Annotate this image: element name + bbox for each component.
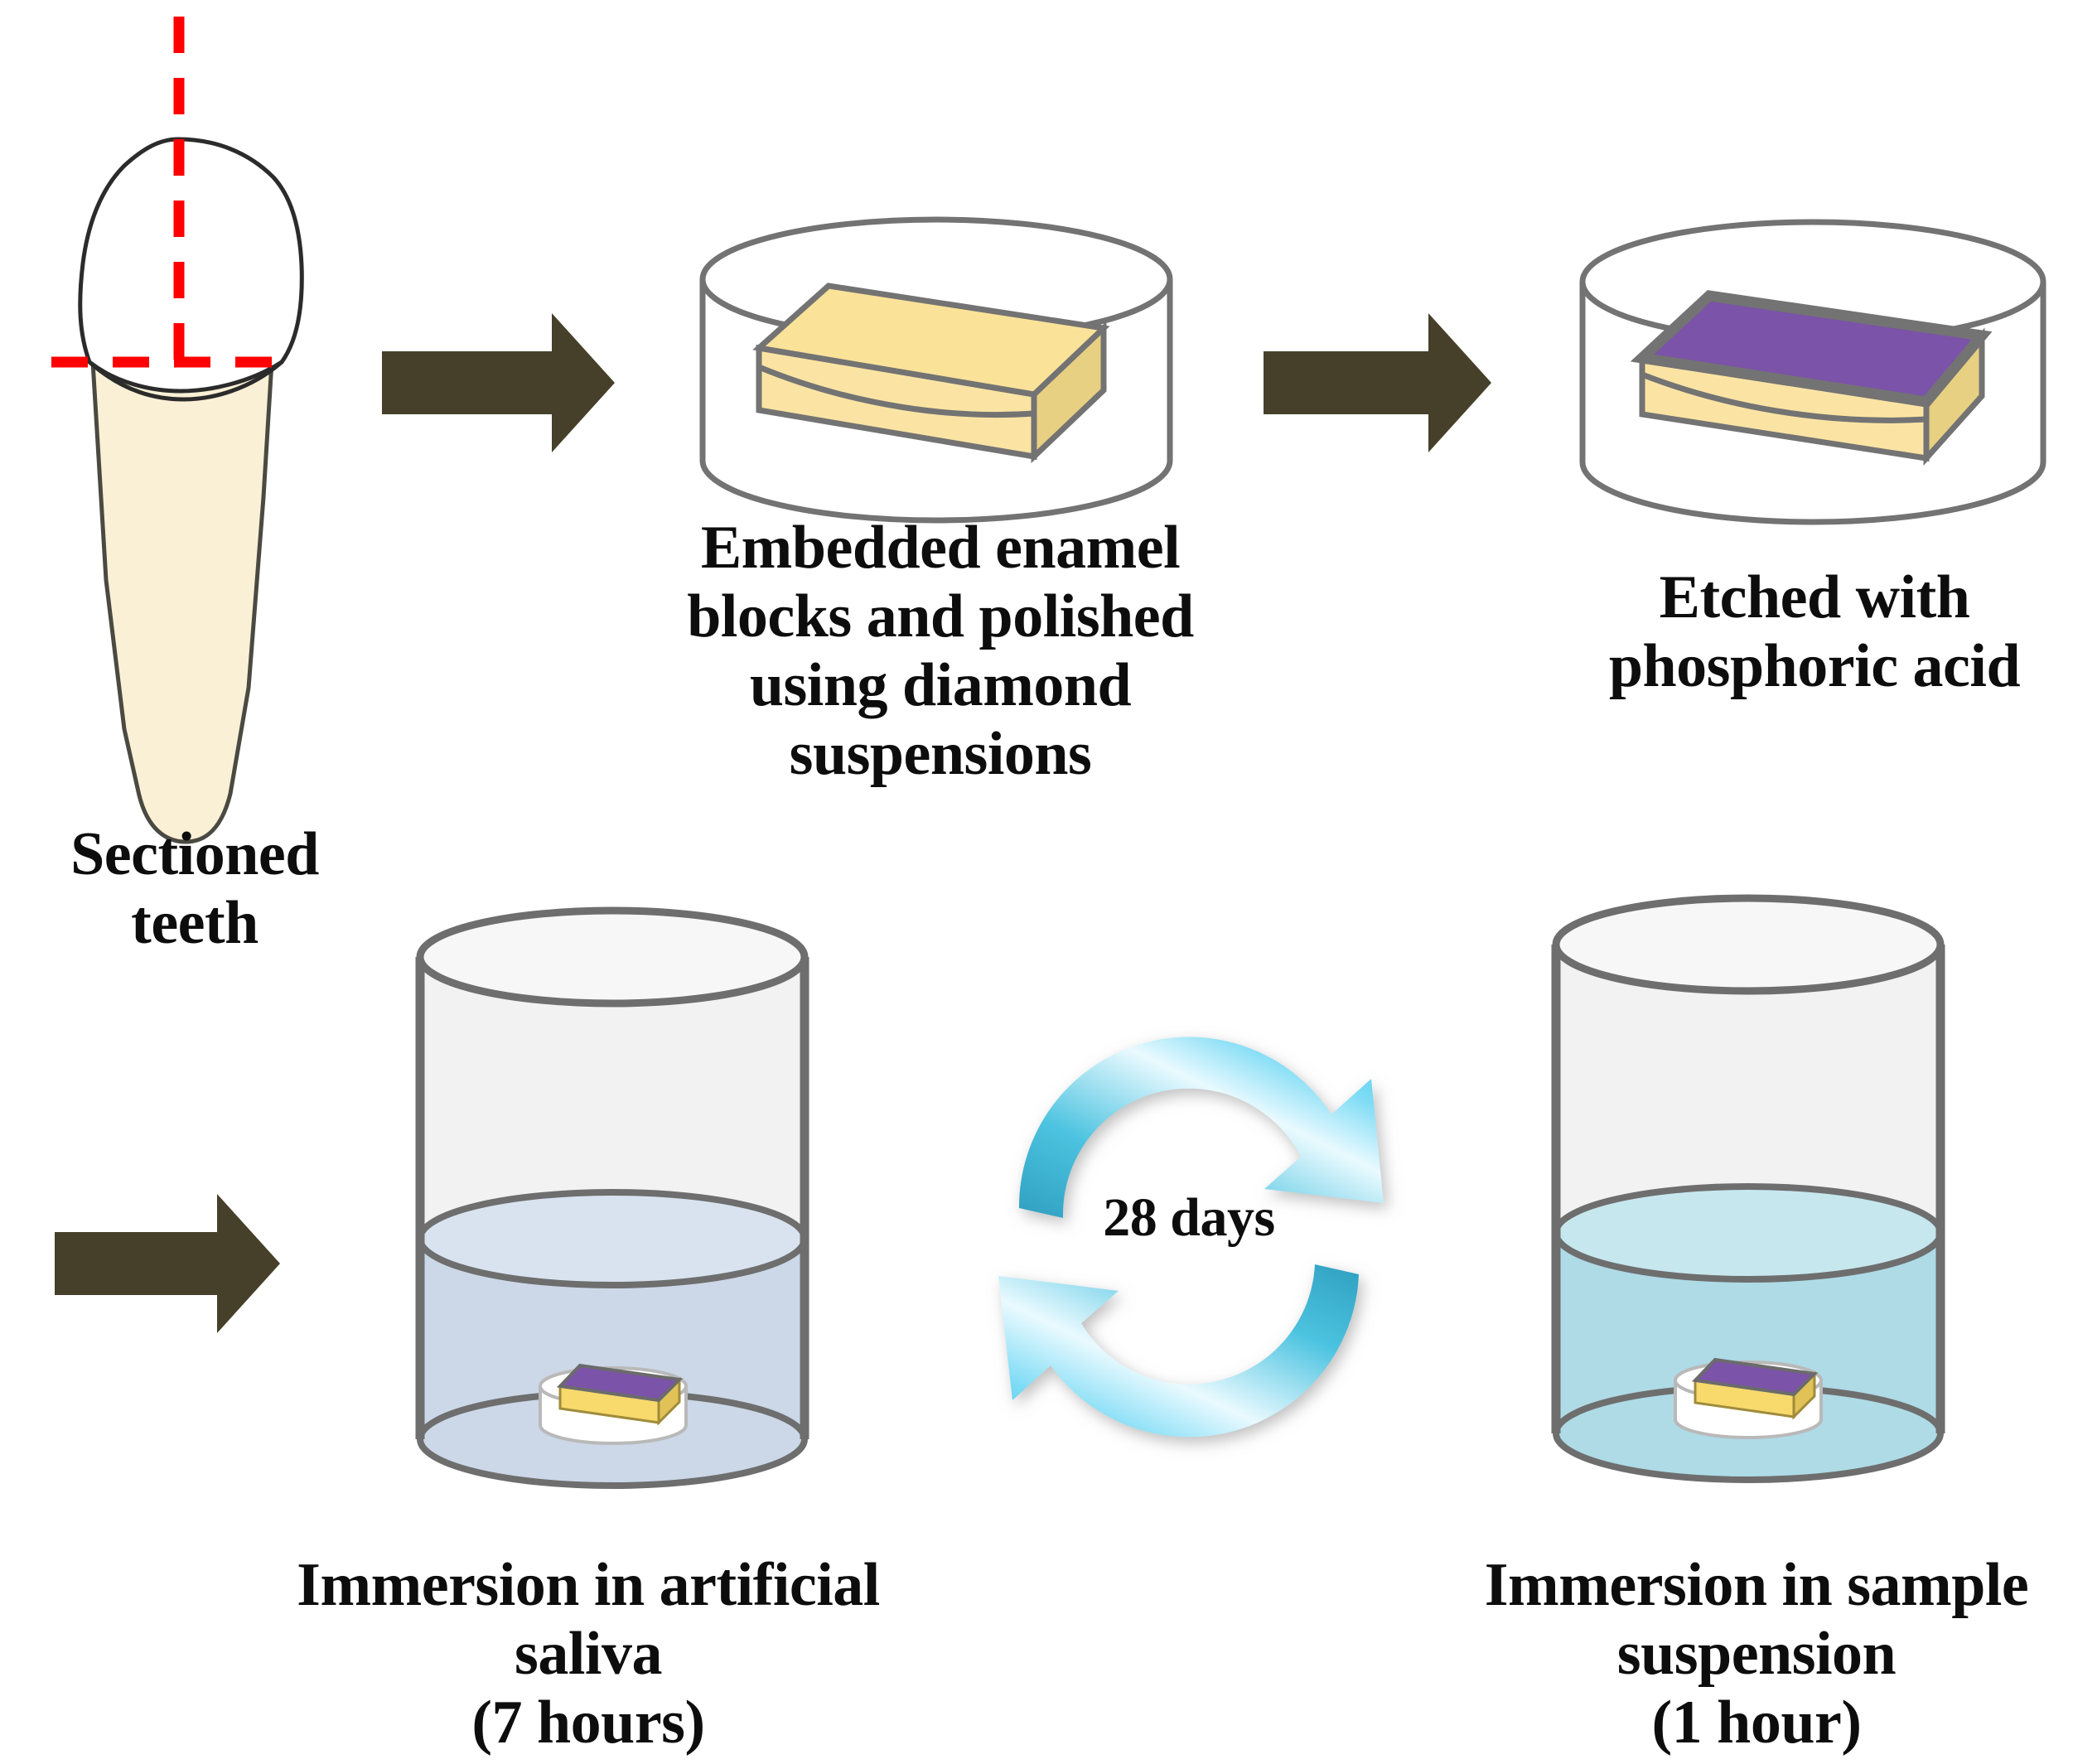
beaker-artificial-saliva (420, 911, 805, 1486)
tooth-icon (51, 17, 302, 842)
label-line: phosphoric acid (1558, 632, 2071, 701)
label-line: teeth (0, 889, 389, 958)
label-line: Etched with (1558, 563, 2071, 632)
petri-dish-etched (1583, 222, 2043, 522)
label-embedded-blocks: Embedded enamel blocks and polished usin… (613, 514, 1268, 789)
process-arrow-1 (382, 313, 615, 452)
label-sample-immersion: Immersion in sample suspension (1 hour) (1433, 1551, 2073, 1757)
label-line: Embedded enamel (613, 514, 1268, 582)
label-line: suspensions (613, 720, 1268, 789)
label-line: (1 hour) (1433, 1689, 2073, 1757)
workflow-diagram: Sectioned teeth Embedded enamel blocks a… (0, 0, 2073, 1764)
label-saliva-immersion: Immersion in artificial saliva (7 hours) (220, 1551, 957, 1757)
label-line: Immersion in sample (1433, 1551, 2073, 1620)
label-cycle-duration: 28 days (1040, 1186, 1338, 1249)
label-line: saliva (220, 1620, 957, 1689)
cycle-arrow-bottom (998, 1264, 1359, 1437)
label-sectioned-teeth: Sectioned teeth (0, 820, 389, 958)
label-etched-acid: Etched with phosphoric acid (1558, 563, 2071, 701)
label-line: Sectioned (0, 820, 389, 889)
label-line: blocks and polished (613, 582, 1268, 651)
process-arrow-3 (55, 1194, 280, 1333)
label-line: (7 hours) (220, 1689, 957, 1757)
beaker-sample-suspension (1556, 898, 1940, 1480)
label-line: using diamond (613, 651, 1268, 720)
label-line: Immersion in artificial (220, 1551, 957, 1620)
petri-dish-polished (703, 220, 1170, 520)
process-arrow-2 (1264, 313, 1491, 452)
label-line: suspension (1433, 1620, 2073, 1689)
